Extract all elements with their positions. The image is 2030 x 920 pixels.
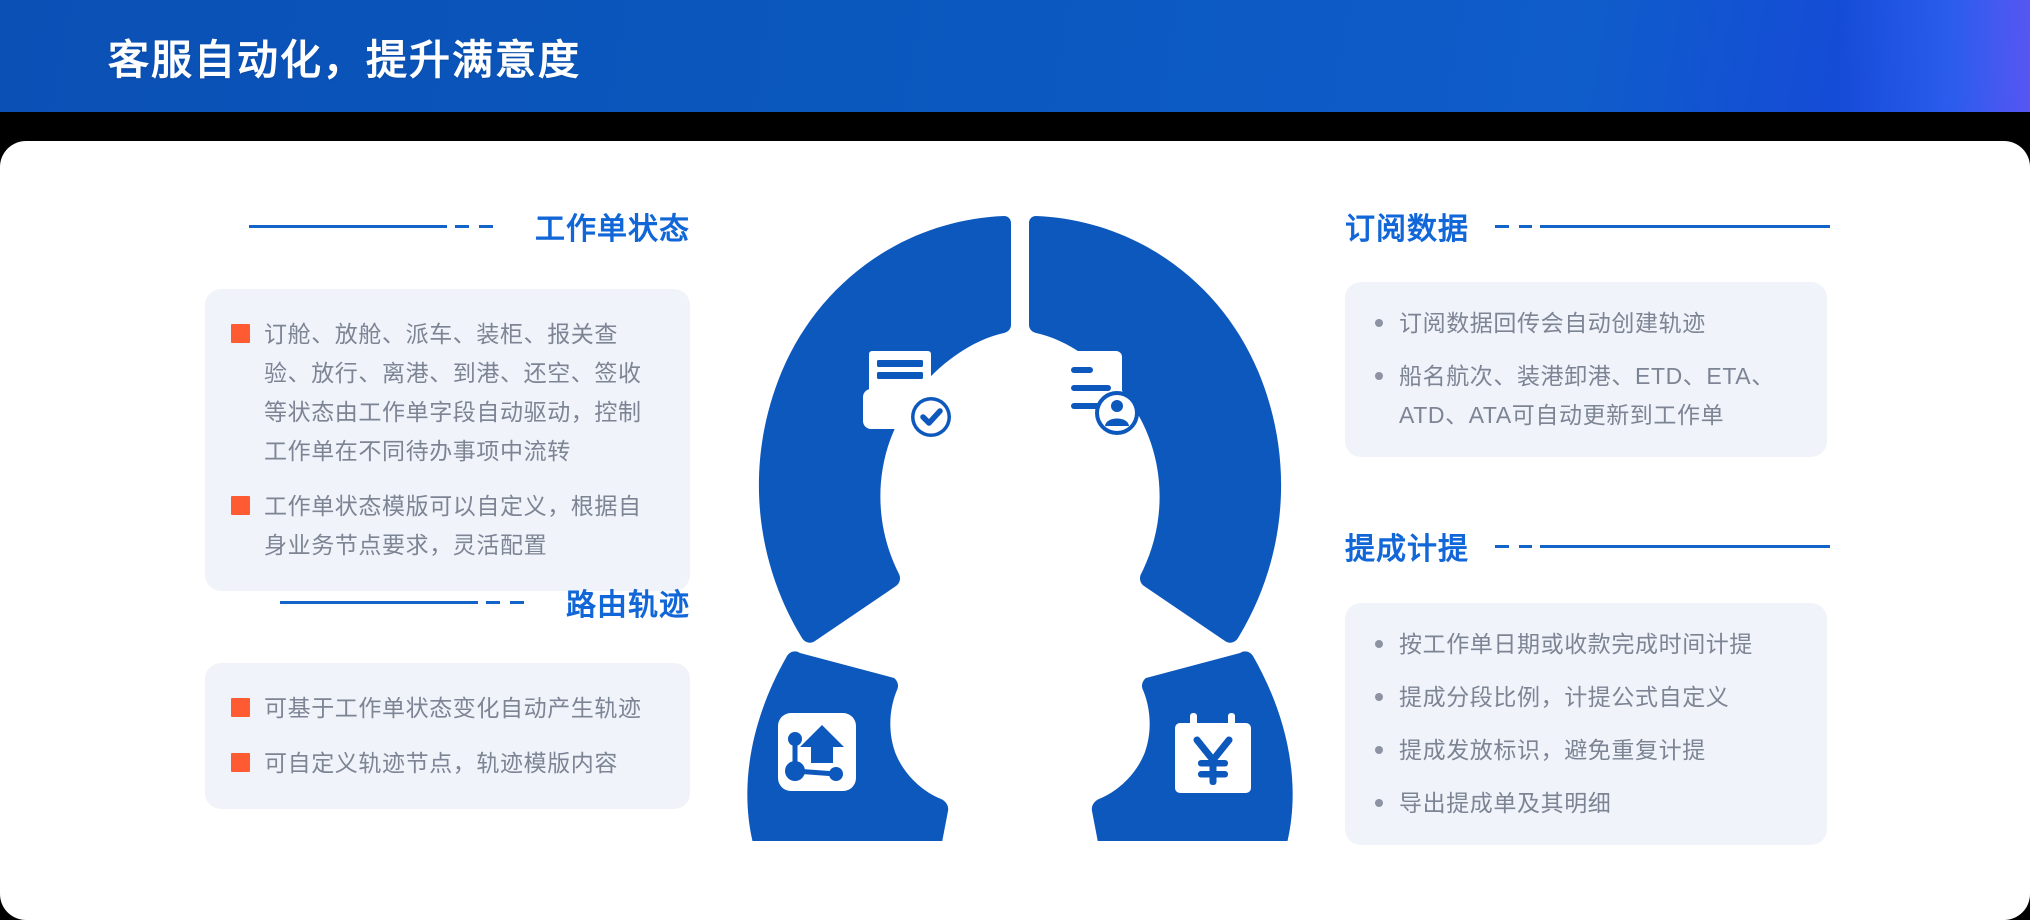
square-bullet-icon [231, 698, 250, 717]
section-heading-work-order-status: 工作单状态 [200, 203, 690, 249]
heading-rule-solid [249, 225, 447, 228]
dot-bullet-icon [1375, 799, 1383, 807]
heading-rule-dashed [455, 225, 493, 228]
route-upload-icon [778, 713, 856, 791]
list-item-text: 按工作单日期或收款完成时间计提 [1399, 625, 1753, 664]
square-bullet-icon [231, 753, 250, 772]
page-title: 客服自动化，提升满意度 [108, 0, 581, 112]
list-item: 按工作单日期或收款完成时间计提 [1375, 625, 1801, 664]
list-item-text: 可自定义轨迹节点，轨迹模版内容 [264, 744, 618, 783]
section-title-route-track: 路由轨迹 [566, 580, 690, 624]
list-item-text: 可基于工作单状态变化自动产生轨迹 [264, 689, 642, 728]
bullet-card-work-order-status: 订舱、放舱、派车、装柜、报关查验、放行、离港、到港、还空、签收等状态由工作单字段… [205, 289, 690, 591]
list-item: 船名航次、装港卸港、ETD、ETA、ATD、ATA可自动更新到工作单 [1375, 357, 1801, 435]
section-title-work-order-status: 工作单状态 [535, 204, 690, 248]
heading-rule-dashed [486, 601, 524, 604]
list-item: 可基于工作单状态变化自动产生轨迹 [231, 689, 664, 728]
dot-bullet-icon [1375, 693, 1383, 701]
list-item-text: 工作单状态模版可以自定义，根据自身业务节点要求，灵活配置 [264, 487, 664, 565]
section-title-commission: 提成计提 [1345, 524, 1469, 568]
header-bar: 客服自动化，提升满意度 [0, 0, 2030, 112]
square-bullet-icon [231, 324, 250, 343]
list-item-text: 提成分段比例，计提公式自定义 [1399, 678, 1729, 717]
square-bullet-icon [231, 496, 250, 515]
bullet-card-subscription-data: 订阅数据回传会自动创建轨迹 船名航次、装港卸港、ETD、ETA、ATD、ATA可… [1345, 282, 1827, 457]
section-heading-route-track: 路由轨迹 [200, 579, 690, 625]
list-item-text: 船名航次、装港卸港、ETD、ETA、ATD、ATA可自动更新到工作单 [1399, 357, 1801, 435]
segmented-ring-diagram [720, 201, 1320, 841]
heading-rule-dashed [1495, 545, 1532, 548]
list-item: 提成发放标识，避免重复计提 [1375, 731, 1801, 770]
heading-rule-dashed [1495, 225, 1532, 228]
list-item: 提成分段比例，计提公式自定义 [1375, 678, 1801, 717]
dot-bullet-icon [1375, 746, 1383, 754]
bullet-card-route-track: 可基于工作单状态变化自动产生轨迹 可自定义轨迹节点，轨迹模版内容 [205, 663, 690, 809]
dot-bullet-icon [1375, 319, 1383, 327]
section-heading-subscription-data: 订阅数据 [1345, 203, 1830, 249]
bullet-card-commission: 按工作单日期或收款完成时间计提 提成分段比例，计提公式自定义 提成发放标识，避免… [1345, 603, 1827, 845]
dot-bullet-icon [1375, 372, 1383, 380]
list-item: 工作单状态模版可以自定义，根据自身业务节点要求，灵活配置 [231, 487, 664, 565]
heading-rule-solid [1540, 545, 1830, 548]
list-item: 订阅数据回传会自动创建轨迹 [1375, 304, 1801, 343]
list-item-text: 订阅数据回传会自动创建轨迹 [1399, 304, 1706, 343]
header-gradient-accent [1840, 0, 2030, 112]
slide-root: 客服自动化，提升满意度 工作单状态 订舱、放舱、派车、装柜、报关查验、放行、离港… [0, 0, 2030, 920]
heading-rule-solid [1540, 225, 1830, 228]
list-item-text: 导出提成单及其明细 [1399, 784, 1611, 823]
section-heading-commission: 提成计提 [1345, 523, 1830, 569]
list-item: 订舱、放舱、派车、装柜、报关查验、放行、离港、到港、还空、签收等状态由工作单字段… [231, 315, 664, 471]
ring-segment-top-left[interactable] [759, 216, 1011, 643]
list-item: 导出提成单及其明细 [1375, 784, 1801, 823]
content-card: 工作单状态 订舱、放舱、派车、装柜、报关查验、放行、离港、到港、还空、签收等状态… [0, 141, 2030, 920]
list-item-text: 订舱、放舱、派车、装柜、报关查验、放行、离港、到港、还空、签收等状态由工作单字段… [264, 315, 664, 471]
section-title-subscription-data: 订阅数据 [1345, 204, 1469, 248]
list-item: 可自定义轨迹节点，轨迹模版内容 [231, 744, 664, 783]
dot-bullet-icon [1375, 640, 1383, 648]
list-item-text: 提成发放标识，避免重复计提 [1399, 731, 1706, 770]
calendar-yen-icon [1175, 713, 1251, 793]
heading-rule-solid [280, 601, 478, 604]
